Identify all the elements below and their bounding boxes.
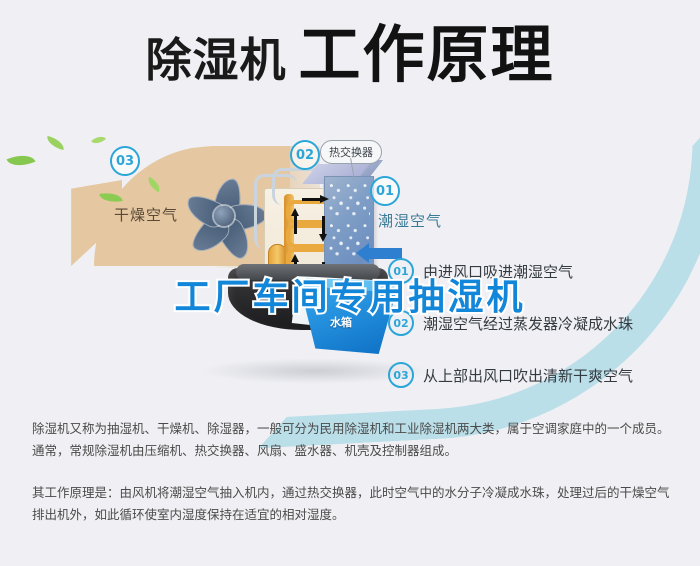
list-item: 03 从上部出风口吹出清新干爽空气 (388, 362, 688, 388)
description-paragraph-1: 除湿机又称为抽湿机、干燥机、除湿器，一般可分为民用除湿机和工业除湿机两大类，属于… (32, 418, 672, 462)
badge-dry-air: 03 (110, 146, 140, 176)
page-title-part1: 除湿机 (145, 33, 286, 87)
flow-arrow-stem (294, 216, 297, 234)
description-paragraph-2: 其工作原理是：由风机将潮湿空气抽入机内，通过热交换器，此时空气中的水分子冷凝成水… (32, 482, 672, 526)
poster-root: 除湿机工作原理 (0, 0, 700, 566)
flow-arrow-right-icon (320, 195, 329, 203)
diagram-stage: 水箱 03 02 01 热交换器 干燥空气 潮湿空气 01 由进风口吸进潮湿空气… (0, 118, 700, 403)
step-number: 03 (388, 362, 414, 388)
description-block: 除湿机又称为抽湿机、干燥机、除湿器，一般可分为民用除湿机和工业除湿机两大类，属于… (32, 418, 672, 534)
flow-arrow-up-icon (291, 208, 299, 216)
overlay-headline: 工厂车间专用抽湿机 (0, 268, 700, 320)
badge-heat-exchanger: 02 (290, 140, 320, 170)
step-text: 从上部出风口吹出清新干爽空气 (423, 365, 633, 386)
fan-hub (214, 206, 234, 226)
flow-arrow-up-icon (291, 254, 299, 262)
dry-air-label: 干燥空气 (114, 204, 178, 225)
flow-arrow-down-icon (319, 234, 327, 242)
leaf-icon (7, 150, 36, 172)
page-title-part2: 工作原理 (298, 18, 554, 91)
humid-air-label: 潮湿空气 (378, 210, 442, 231)
flow-arrow-stem (302, 198, 320, 201)
badge-humid-air: 01 (370, 176, 400, 206)
page-title: 除湿机工作原理 (0, 24, 700, 86)
leaf-icon (45, 136, 66, 150)
flow-arrow-stem (322, 216, 325, 234)
